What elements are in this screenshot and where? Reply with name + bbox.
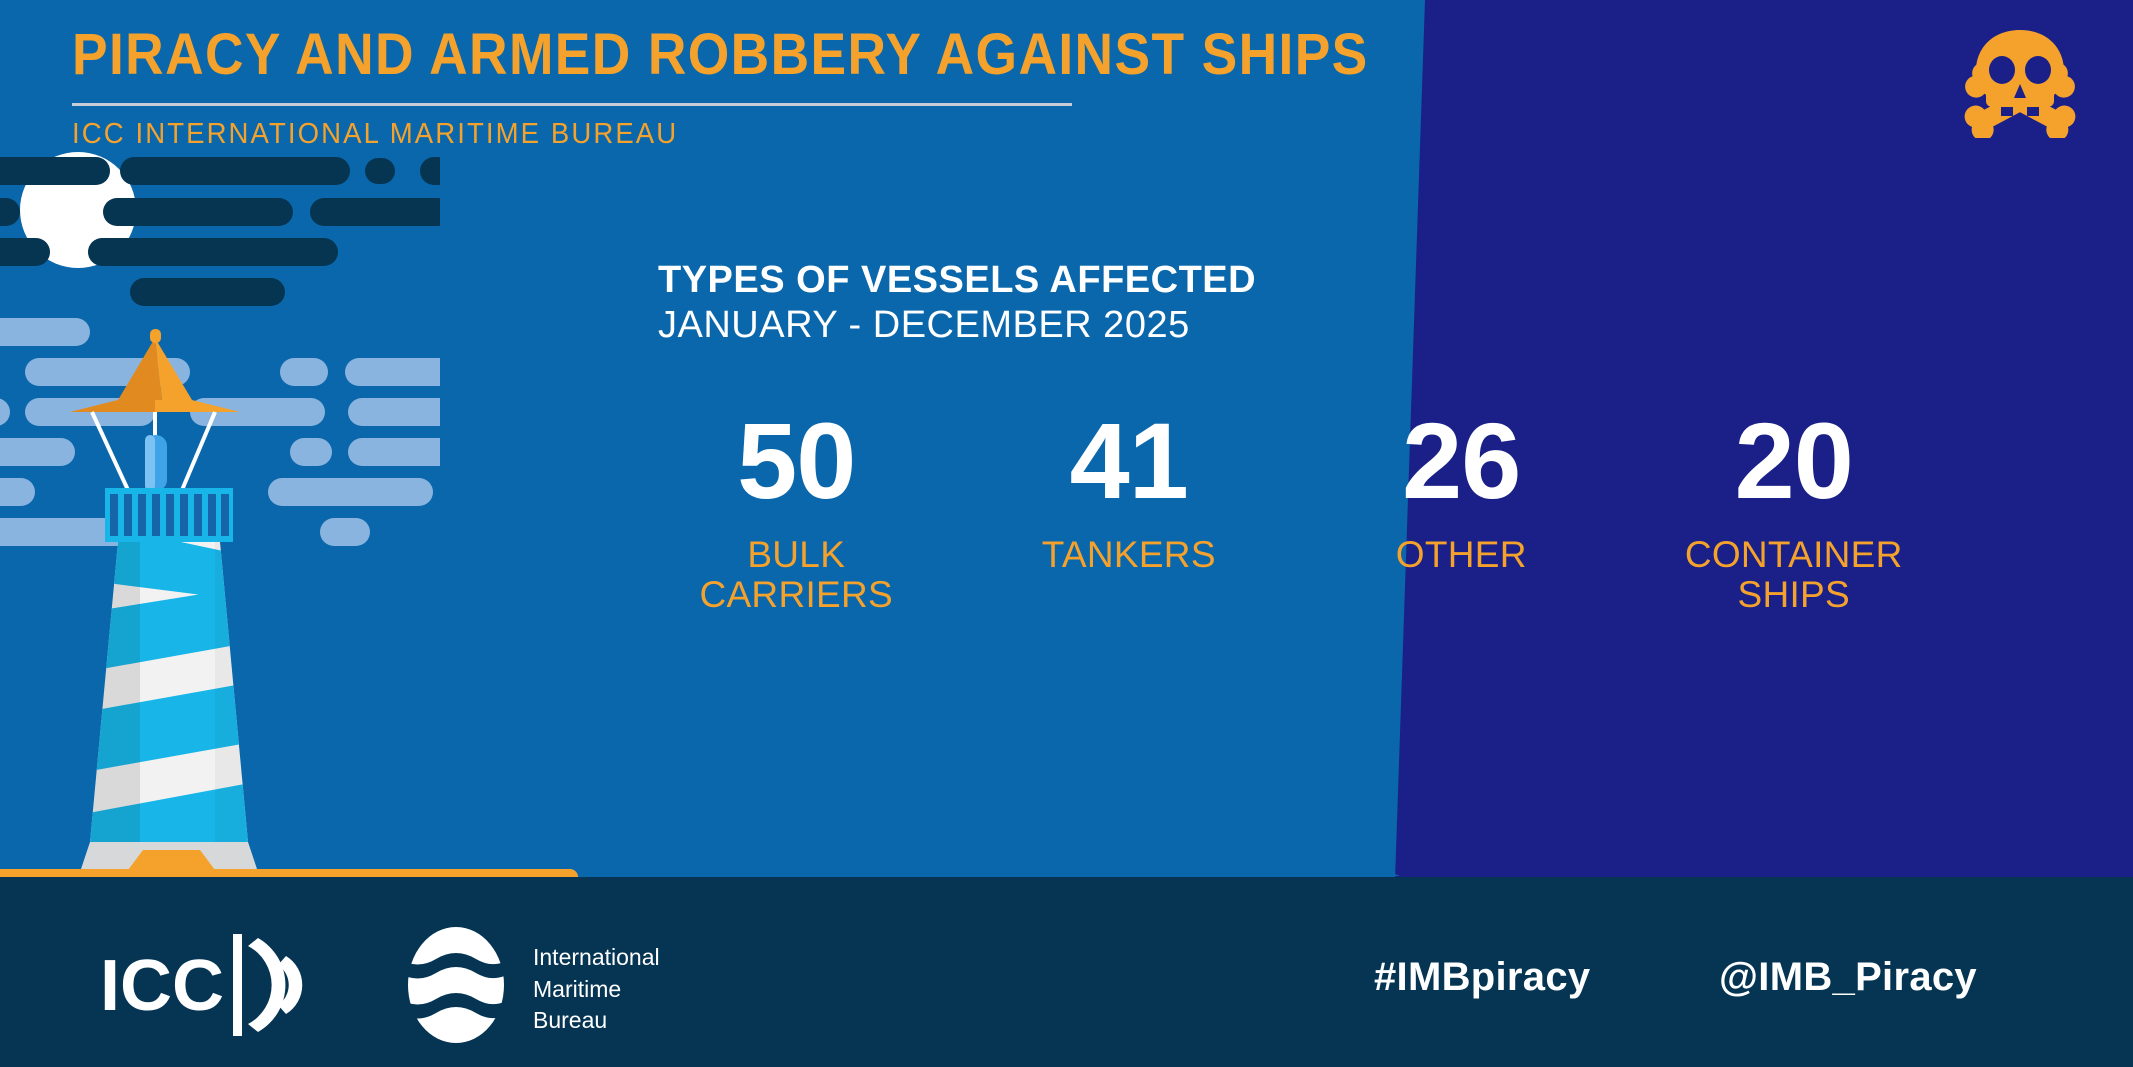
stat-label: OTHER — [1295, 535, 1628, 575]
social-handle-label: @IMB_Piracy — [1719, 955, 1977, 1000]
stat-container-ships: 20 CONTAINERSHIPS — [1628, 410, 1961, 615]
infographic-canvas: PIRACY AND ARMED ROBBERY AGAINST SHIPS I… — [0, 0, 2133, 1067]
page-title: PIRACY AND ARMED ROBBERY AGAINST SHIPS — [72, 26, 1378, 84]
lighthouse-railing — [105, 488, 233, 542]
stat-value: 26 — [1295, 410, 1628, 513]
imb-wave-bands — [396, 925, 516, 1045]
content-heading: TYPES OF VESSELS AFFECTED JANUARY - DECE… — [658, 258, 1256, 348]
heading-primary: TYPES OF VESSELS AFFECTED — [658, 258, 1256, 303]
lighthouse-illustration — [0, 150, 440, 890]
icc-logo-arc-outer — [248, 938, 285, 1032]
header: PIRACY AND ARMED ROBBERY AGAINST SHIPS — [72, 26, 1492, 84]
imb-logo-text: International Maritime Bureau — [533, 942, 660, 1037]
stat-label: CONTAINERSHIPS — [1628, 535, 1961, 615]
icc-logo-bar — [233, 934, 242, 1036]
stat-bulk-carriers: 50 BULKCARRIERS — [630, 410, 963, 615]
stat-tankers: 41 TANKERS — [963, 410, 1296, 575]
stat-label: TANKERS — [963, 535, 1296, 575]
heading-period: JANUARY - DECEMBER 2025 — [658, 303, 1256, 348]
stat-other: 26 OTHER — [1295, 410, 1628, 575]
stat-value: 50 — [630, 410, 963, 513]
page-subtitle: ICC INTERNATIONAL MARITIME BUREAU — [72, 118, 678, 151]
stat-label: BULKCARRIERS — [630, 535, 963, 615]
imb-logo-mark — [396, 925, 516, 1045]
imb-text-line1: International — [533, 942, 660, 974]
hashtag-label: #IMBpiracy — [1374, 955, 1590, 1000]
icc-logo-text: ICC — [100, 946, 224, 1026]
stat-value: 41 — [963, 410, 1296, 513]
stat-value: 20 — [1628, 410, 1961, 513]
icc-logo: ICC — [100, 930, 330, 1040]
skull-and-crossbones-icon — [1960, 28, 2080, 138]
lighthouse-tower — [40, 517, 320, 880]
title-divider — [72, 103, 1072, 106]
imb-text-line3: Bureau — [533, 1005, 660, 1037]
statistics-row: 50 BULKCARRIERS 41 TANKERS 26 OTHER 20 C… — [630, 410, 1960, 615]
imb-text-line2: Maritime — [533, 974, 660, 1006]
